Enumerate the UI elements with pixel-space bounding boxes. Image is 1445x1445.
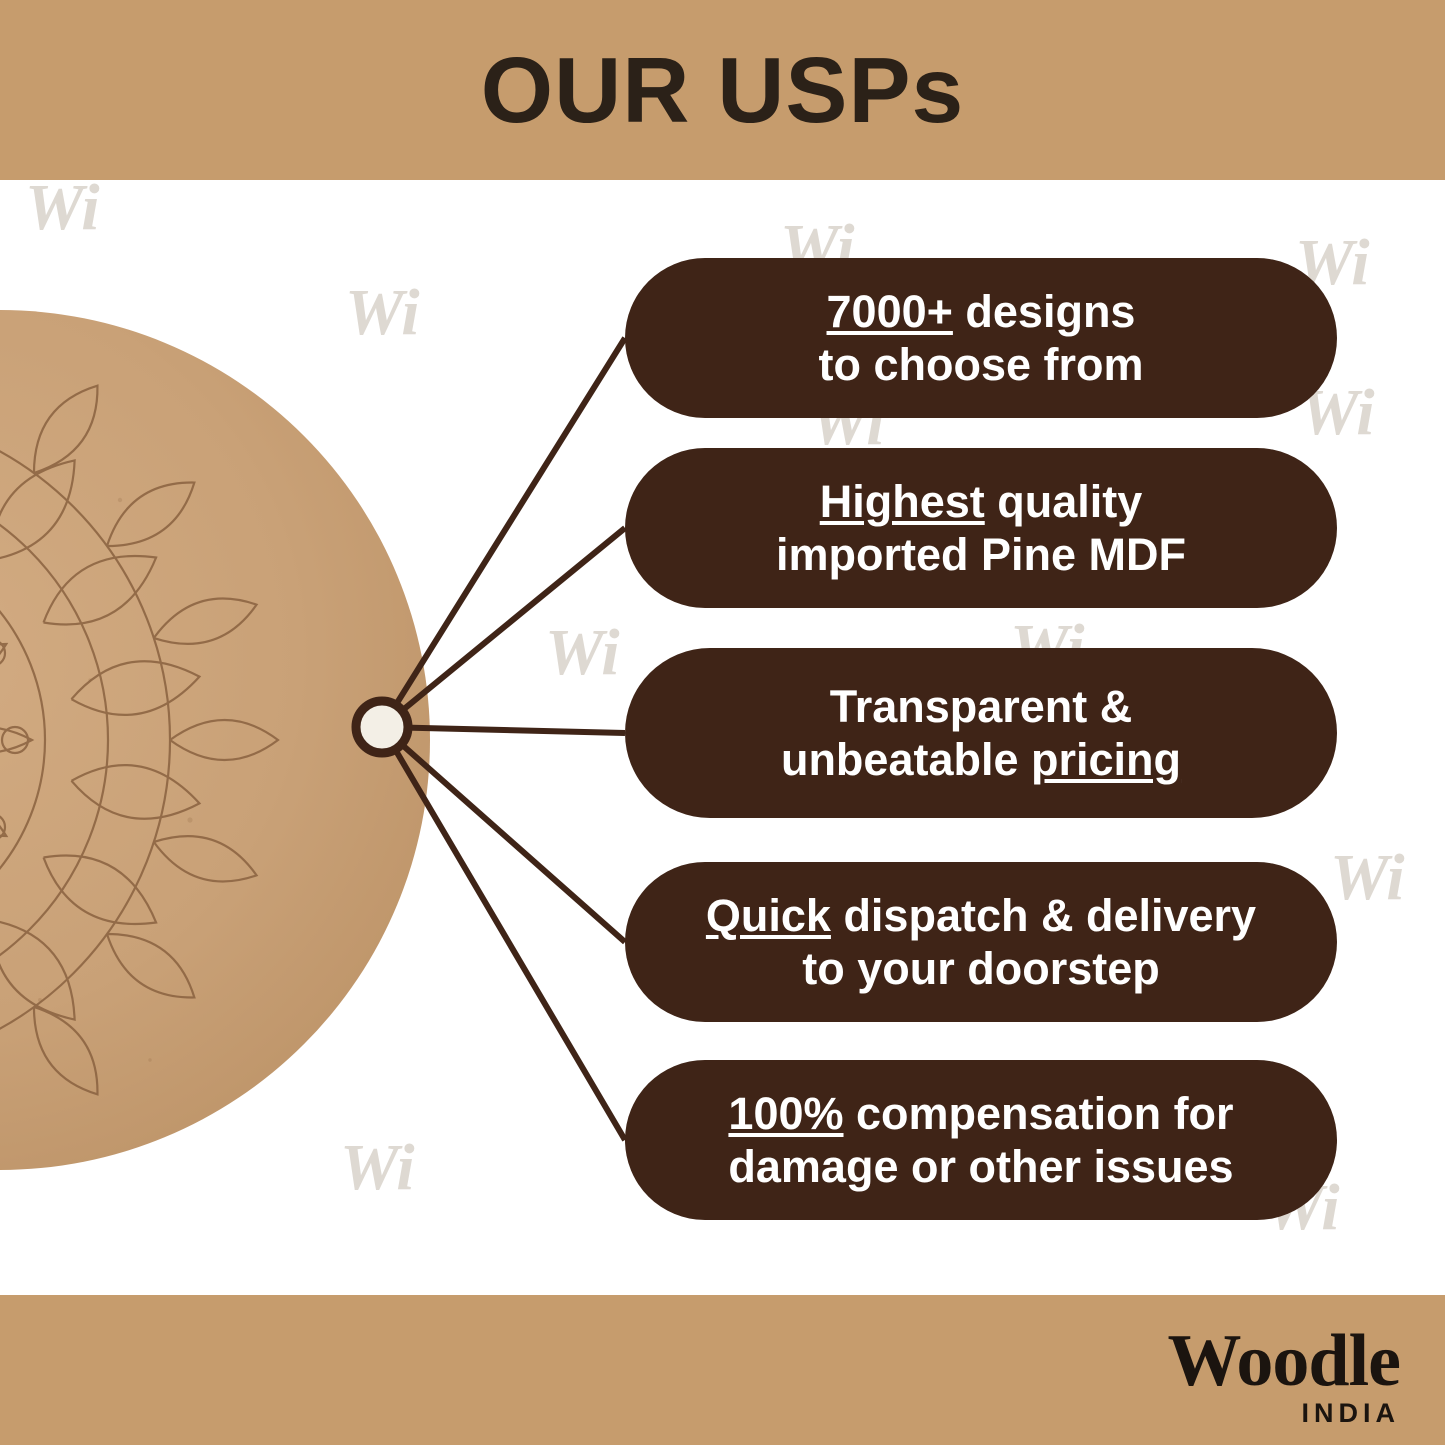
- usp-pill-line-1: 7000+ designs: [818, 285, 1143, 338]
- usp-pill-dispatch[interactable]: Quick dispatch & delivery to your doorst…: [625, 862, 1337, 1022]
- usp-pill-line-1: Highest quality: [776, 475, 1186, 528]
- usp-text: compensation for: [844, 1088, 1234, 1139]
- usp-pill-line-1: Transparent &: [781, 680, 1181, 733]
- usp-pill-line-2: damage or other issues: [728, 1140, 1233, 1193]
- usp-pill-line-2: imported Pine MDF: [776, 528, 1186, 581]
- watermark: Wi: [1330, 845, 1405, 911]
- usp-pill-line-1: 100% compensation for: [728, 1087, 1233, 1140]
- brand-logo: Woodle INDIA: [1168, 1324, 1400, 1427]
- usp-emphasis: pricing: [1031, 734, 1181, 785]
- watermark: Wi: [25, 175, 100, 241]
- brand-name: Woodle: [1168, 1324, 1400, 1398]
- poster-canvas: Wi Wi Wi Wi Wi Wi Wi Wi Wi Wi Wi: [0, 0, 1445, 1445]
- usp-pill-pricing[interactable]: Transparent & unbeatable pricing: [625, 648, 1337, 818]
- usp-text: dispatch & delivery: [831, 890, 1256, 941]
- usp-emphasis: 7000+: [827, 286, 953, 337]
- usp-pill-line-2: to your doorstep: [706, 942, 1256, 995]
- usp-emphasis: Highest: [820, 476, 985, 527]
- usp-pill-line-1: Quick dispatch & delivery: [706, 889, 1256, 942]
- usp-pill-compensation[interactable]: 100% compensation for damage or other is…: [625, 1060, 1337, 1220]
- usp-emphasis: 100%: [728, 1088, 843, 1139]
- usp-pill-line-2: unbeatable pricing: [781, 733, 1181, 786]
- brand-subtitle: INDIA: [1168, 1400, 1400, 1427]
- usp-pill-quality[interactable]: Highest quality imported Pine MDF: [625, 448, 1337, 608]
- usp-emphasis: Quick: [706, 890, 831, 941]
- usp-text: quality: [985, 476, 1143, 527]
- mandala-board-svg: [0, 300, 430, 1180]
- usp-text: unbeatable: [781, 734, 1031, 785]
- watermark: Wi: [545, 620, 620, 686]
- page-title: OUR USPs: [0, 0, 1445, 180]
- usp-pill-line-2: to choose from: [818, 338, 1143, 391]
- usp-text: designs: [953, 286, 1136, 337]
- mandala-board: [0, 300, 430, 1180]
- usp-pill-designs[interactable]: 7000+ designs to choose from: [625, 258, 1337, 418]
